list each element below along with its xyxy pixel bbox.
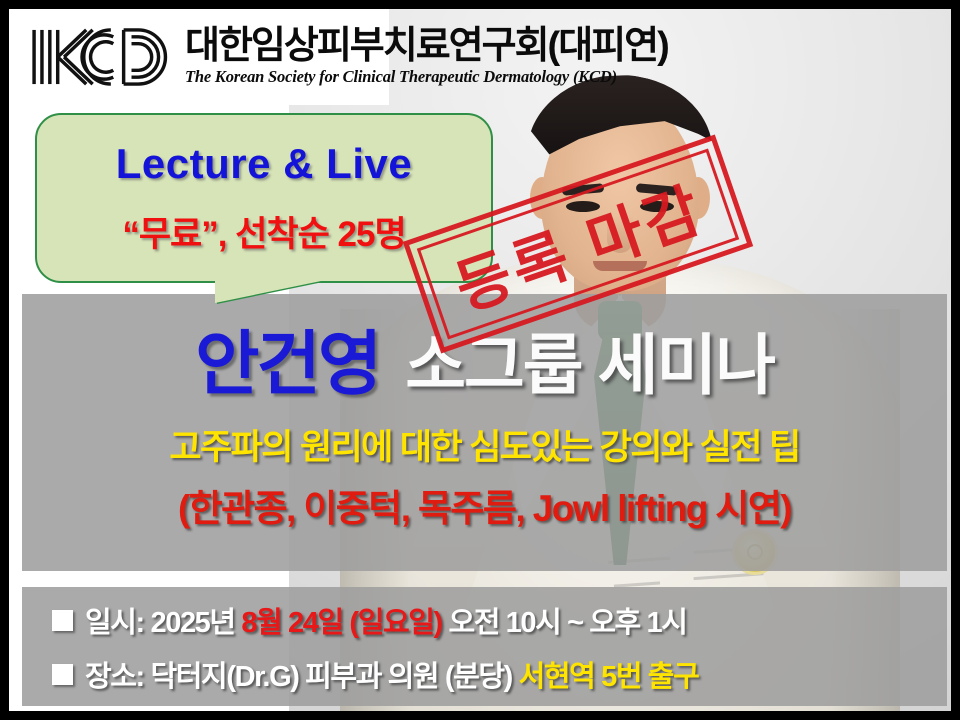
organization-names: 대한임상피부치료연구회(대피연) The Korean Society for … [185, 27, 668, 88]
org-name-english: The Korean Society for Clinical Therapeu… [185, 67, 668, 87]
kcd-logo-icon [27, 26, 175, 88]
bullet-square-icon [52, 664, 73, 685]
place-highlight-exit: 서현역 5번 출구 [519, 653, 699, 695]
date-time: 오전 10시 ~ 오후 1시 [448, 599, 686, 641]
bubble-line-lecture-live: Lecture & Live [116, 140, 412, 188]
bubble-tail [215, 281, 321, 303]
date-year: 2025년 [151, 599, 235, 641]
info-row-place: 장소: 닥터지(Dr.G) 피부과 의원 (분당) 서현역 5번 출구 [52, 653, 947, 695]
info-row-date: 일시: 2025년 8월 24일 (일요일) 오전 10시 ~ 오후 1시 [52, 599, 947, 641]
date-highlight: 8월 24일 (일요일) [241, 599, 441, 641]
speaker-name: 안건영 [195, 308, 379, 409]
subtitle-topic: 고주파의 원리에 대한 심도있는 강의와 실전 팁 [169, 419, 799, 470]
seminar-poster: 대한임상피부치료연구회(대피연) The Korean Society for … [0, 0, 960, 720]
poster-header: 대한임상피부치료연구회(대피연) The Korean Society for … [9, 9, 951, 105]
place-name: 닥터지(Dr.G) 피부과 의원 (분당) [151, 653, 512, 695]
org-name-korean: 대한임상피부치료연구회(대피연) [185, 27, 668, 67]
date-label: 일시: [85, 599, 144, 641]
subtitle-demonstrations: (한관종, 이중턱, 목주름, Jowl lifting 시연) [178, 478, 791, 532]
bullet-square-icon [52, 610, 73, 631]
event-info-panel: 일시: 2025년 8월 24일 (일요일) 오전 10시 ~ 오후 1시 장소… [22, 587, 947, 706]
bubble-line-free-seats: “무료”, 선착순 25명 [122, 206, 405, 257]
place-label: 장소: [85, 653, 144, 695]
